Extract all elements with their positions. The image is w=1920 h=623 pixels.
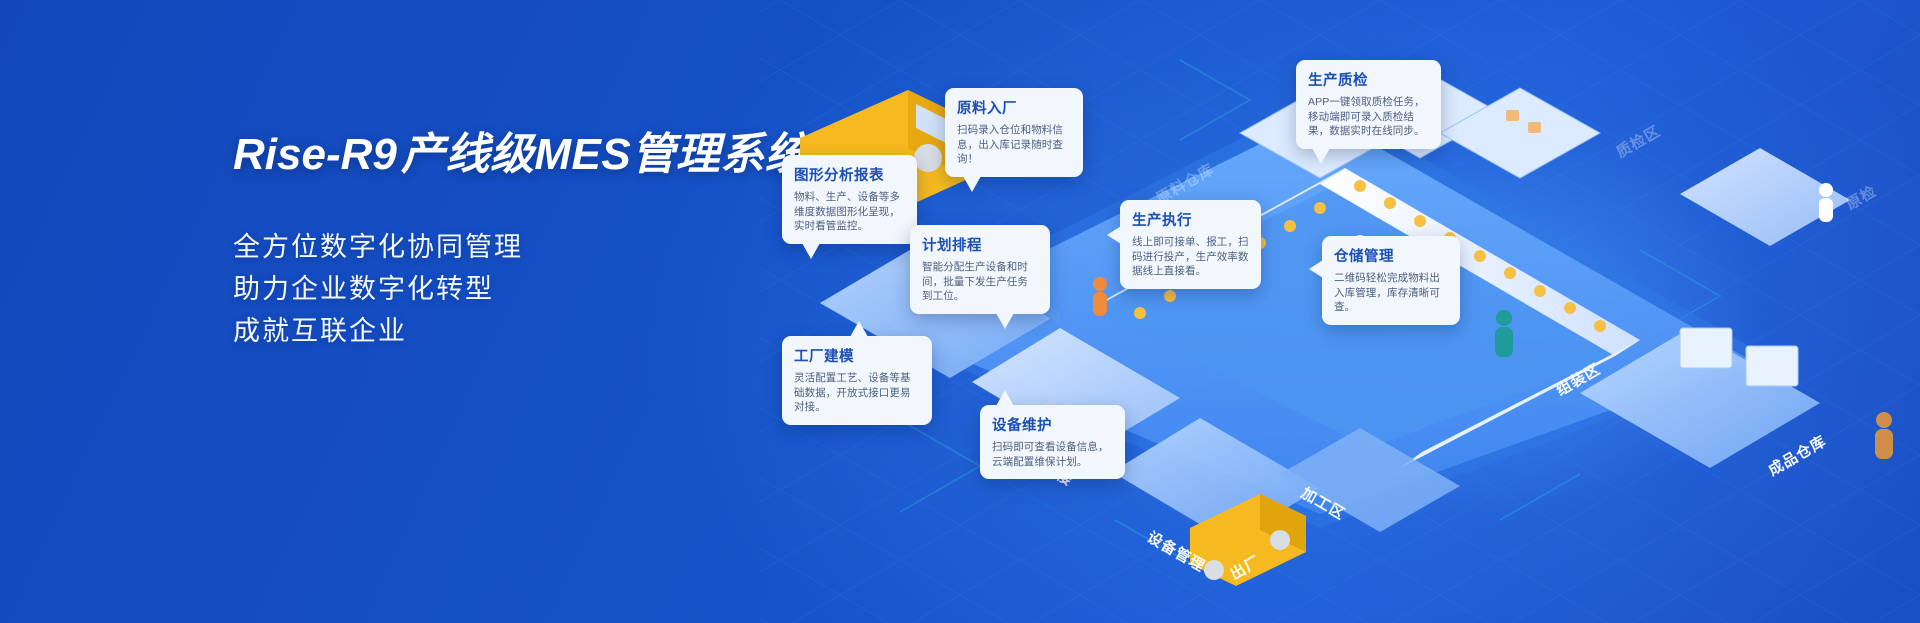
callout-card-warehouse[interactable]: 仓储管理 二维码轻松完成物料出入库管理，库存清晰可查。	[1322, 236, 1460, 325]
callout-card-factory-modeling[interactable]: 工厂建模 灵活配置工艺、设备等基础数据，开放式接口更易对接。	[782, 336, 932, 425]
callout-card-report[interactable]: 图形分析报表 物料、生产、设备等多维度数据图形化呈现，实时看管监控。	[782, 155, 917, 244]
callout-title: 仓储管理	[1334, 245, 1448, 266]
callout-tail	[1107, 226, 1121, 244]
callout-tail	[802, 243, 820, 259]
callout-body: 扫码录入仓位和物料信息，出入库记录随时查询！	[957, 123, 1071, 167]
callout-title: 生产执行	[1132, 209, 1249, 230]
callout-title: 图形分析报表	[794, 164, 905, 185]
callout-tail	[963, 176, 981, 192]
zone-label-inspection: 质检区	[1613, 122, 1664, 162]
callout-card-planning[interactable]: 计划排程 智能分配生产设备和时间，批量下发生产任务到工位。	[910, 225, 1050, 314]
callout-title: 生产质检	[1308, 69, 1429, 90]
callout-body: 线上即可接单、报工，扫码进行投产，生产效率数据线上直接看。	[1132, 235, 1249, 279]
callout-body: 灵活配置工艺、设备等基础数据，开放式接口更易对接。	[794, 371, 920, 415]
callout-card-quality-inspection[interactable]: 生产质检 APP一键领取质检任务，移动端即可录入质检结果，数据实时在线同步。	[1296, 60, 1441, 149]
callout-title: 工厂建模	[794, 345, 920, 366]
callout-body: APP一键领取质检任务，移动端即可录入质检结果，数据实时在线同步。	[1308, 95, 1429, 139]
callout-body: 二维码轻松完成物料出入库管理，库存清晰可查。	[1334, 271, 1448, 315]
callout-tail	[1309, 260, 1323, 278]
zone-label-incoming: 原检	[1843, 182, 1880, 214]
callout-title: 设备维护	[992, 414, 1113, 435]
title-cn: 产线级MES管理系统	[401, 130, 809, 179]
mes-promo-banner: Rise-R9产线级MES管理系统 全方位数字化协同管理 助力企业数字化转型 成…	[0, 0, 1920, 623]
callout-card-equipment-maintenance[interactable]: 设备维护 扫码即可查看设备信息，云端配置维保计划。	[980, 405, 1125, 479]
product-name: Rise-R9	[233, 130, 397, 179]
zone-label-finished: 成品仓库	[1765, 432, 1829, 480]
callout-title: 计划排程	[922, 234, 1038, 255]
callout-tail	[996, 390, 1014, 406]
inspection-zone	[1680, 148, 1850, 246]
callout-tail	[850, 321, 868, 337]
callout-title: 原料入厂	[957, 97, 1071, 118]
callout-body: 物料、生产、设备等多维度数据图形化呈现，实时看管监控。	[794, 190, 905, 234]
callout-body: 扫码即可查看设备信息，云端配置维保计划。	[992, 440, 1113, 469]
callout-tail	[1312, 148, 1330, 164]
callout-tail	[996, 313, 1014, 329]
callout-card-production-execution[interactable]: 生产执行 线上即可接单、报工，扫码进行投产，生产效率数据线上直接看。	[1120, 200, 1261, 289]
callout-body: 智能分配生产设备和时间，批量下发生产任务到工位。	[922, 260, 1038, 304]
callout-card-material[interactable]: 原料入厂 扫码录入仓位和物料信息，出入库记录随时查询！	[945, 88, 1083, 177]
